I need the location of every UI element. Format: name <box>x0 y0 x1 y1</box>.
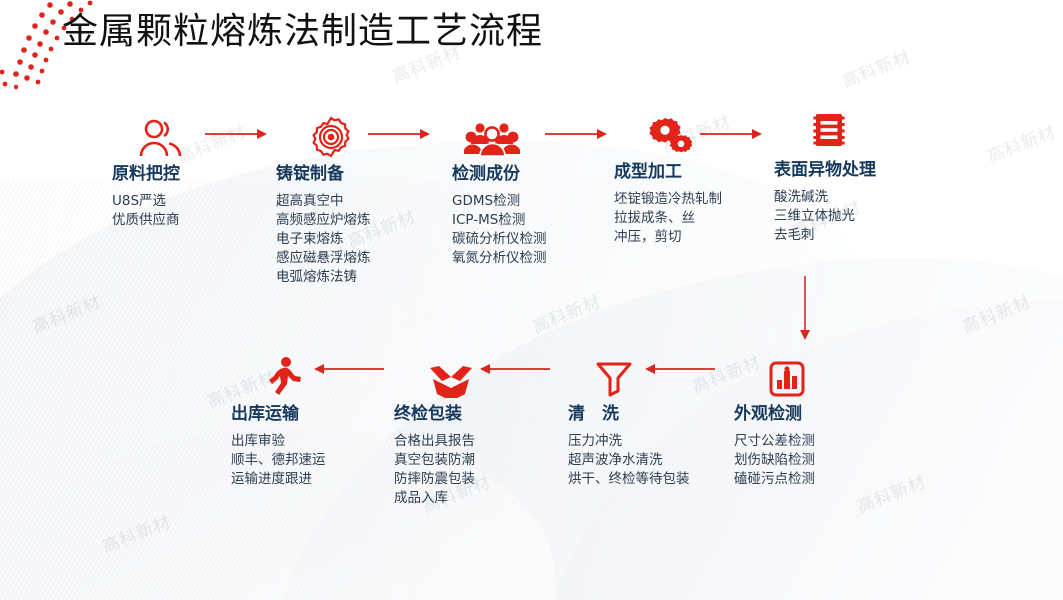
background-decoration: 高科新材 高科新材 高科新材 高科新材 高科新材 高科新材 高科新材 高科新材 … <box>0 0 1063 600</box>
watermark-text: 高科新材 <box>983 117 1059 167</box>
list-item: 坯锭锻造冷热轧制 <box>614 190 779 209</box>
list-item: 真空包装防潮 <box>394 451 559 470</box>
list-item: 尺寸公差检测 <box>734 432 899 451</box>
list-item: 烘干、终检等待包装 <box>568 470 694 489</box>
list-item: 碳硫分析仪检测 <box>452 230 617 249</box>
list-item: 高频感应炉熔炼 <box>276 211 441 230</box>
flow-step-6-appearance-inspection[interactable]: 外观检测 尺寸公差检测 划伤缺陷检测 磕碰污点检测 <box>734 352 899 489</box>
list-item: U8S严选 <box>112 192 277 211</box>
list-item: 磕碰污点检测 <box>734 470 899 489</box>
list-item: 运输进度跟进 <box>231 470 396 489</box>
watermark-text: 高科新材 <box>838 42 914 92</box>
inspection-magnifier-icon <box>734 352 899 398</box>
arrow-step7-to-step8 <box>478 363 550 375</box>
list-item: 电弧熔炼法铸 <box>276 268 441 287</box>
flow-step-heading: 铸锭制备 <box>276 164 441 184</box>
funnel-icon <box>568 352 694 398</box>
arrow-step6-to-step7 <box>643 363 715 375</box>
watermark-layer: 高科新材 高科新材 高科新材 高科新材 高科新材 高科新材 高科新材 高科新材 … <box>0 0 1063 600</box>
open-box-icon <box>394 352 559 398</box>
list-item: 压力冲洗 <box>568 432 694 451</box>
list-item: 电子束熔炼 <box>276 230 441 249</box>
list-item: 出库审验 <box>231 432 396 451</box>
list-item: 拉拔成条、丝 <box>614 209 779 228</box>
list-item: 超高真空中 <box>276 192 441 211</box>
flow-step-heading: 终检包装 <box>394 404 559 424</box>
page-title: 金属颗粒熔炼法制造工艺流程 <box>62 6 543 58</box>
watermark-text: 高科新材 <box>98 507 174 557</box>
flow-step-heading: 清 洗 <box>568 404 694 424</box>
list-item: 合格出具报告 <box>394 432 559 451</box>
running-person-icon <box>231 352 396 398</box>
list-item: 三维立体抛光 <box>774 207 939 226</box>
flow-step-8-final-inspection-packaging[interactable]: 终检包装 合格出具报告 真空包装防潮 防摔防震包装 成品入库 <box>394 352 559 508</box>
flow-step-5-surface-treatment[interactable]: 表面异物处理 酸洗碱洗 三维立体抛光 去毛刺 <box>774 108 939 245</box>
list-item: 感应磁悬浮熔炼 <box>276 249 441 268</box>
flow-step-heading: 成型加工 <box>614 162 779 182</box>
arrow-step1-to-step2 <box>205 128 267 140</box>
list-item: 氧氮分析仪检测 <box>452 249 617 268</box>
list-item: 顺丰、德邦速运 <box>231 451 396 470</box>
flow-step-heading: 原料把控 <box>112 164 277 184</box>
list-item: 划伤缺陷检测 <box>734 451 899 470</box>
flow-step-detail-list: 坯锭锻造冷热轧制 拉拔成条、丝 冲压，剪切 <box>614 190 779 247</box>
document-lines-icon <box>774 108 939 154</box>
flow-step-heading: 出库运输 <box>231 404 396 424</box>
flow-step-detail-list: GDMS检测 ICP-MS检测 碳硫分析仪检测 氧氮分析仪检测 <box>452 192 617 268</box>
flow-step-detail-list: U8S严选 优质供应商 <box>112 192 277 230</box>
arrow-step5-to-step6 <box>798 276 812 288</box>
arrow-step4-to-step5 <box>700 128 762 140</box>
list-item: 成品入库 <box>394 489 559 508</box>
flow-step-detail-list: 尺寸公差检测 划伤缺陷检测 磕碰污点检测 <box>734 432 899 489</box>
list-item: 冲压，剪切 <box>614 228 779 247</box>
flow-step-detail-list: 出库审验 顺丰、德邦速运 运输进度跟进 <box>231 432 396 489</box>
flow-step-detail-list: 压力冲洗 超声波净水清洗 烘干、终检等待包装 <box>568 432 694 489</box>
list-item: 超声波净水清洗 <box>568 451 694 470</box>
list-item: 优质供应商 <box>112 211 277 230</box>
list-item: GDMS检测 <box>452 192 617 211</box>
arrow-step2-to-step3 <box>368 128 430 140</box>
watermark-text: 高科新材 <box>958 287 1034 337</box>
watermark-text: 高科新材 <box>28 287 104 337</box>
list-item: ICP-MS检测 <box>452 211 617 230</box>
flow-step-heading: 检测成份 <box>452 164 617 184</box>
list-item: 酸洗碱洗 <box>774 188 939 207</box>
flow-step-detail-list: 酸洗碱洗 三维立体抛光 去毛刺 <box>774 188 939 245</box>
list-item: 去毛刺 <box>774 226 939 245</box>
flow-step-heading: 外观检测 <box>734 404 899 424</box>
list-item: 防摔防震包装 <box>394 470 559 489</box>
flow-step-detail-list: 超高真空中 高频感应炉熔炼 电子束熔炼 感应磁悬浮熔炼 电弧熔炼法铸 <box>276 192 441 287</box>
flow-step-detail-list: 合格出具报告 真空包装防潮 防摔防震包装 成品入库 <box>394 432 559 508</box>
arrow-step8-to-step9 <box>312 363 384 375</box>
flow-step-heading: 表面异物处理 <box>774 160 939 180</box>
watermark-text: 高科新材 <box>528 287 604 337</box>
arrow-step3-to-step4 <box>545 128 607 140</box>
